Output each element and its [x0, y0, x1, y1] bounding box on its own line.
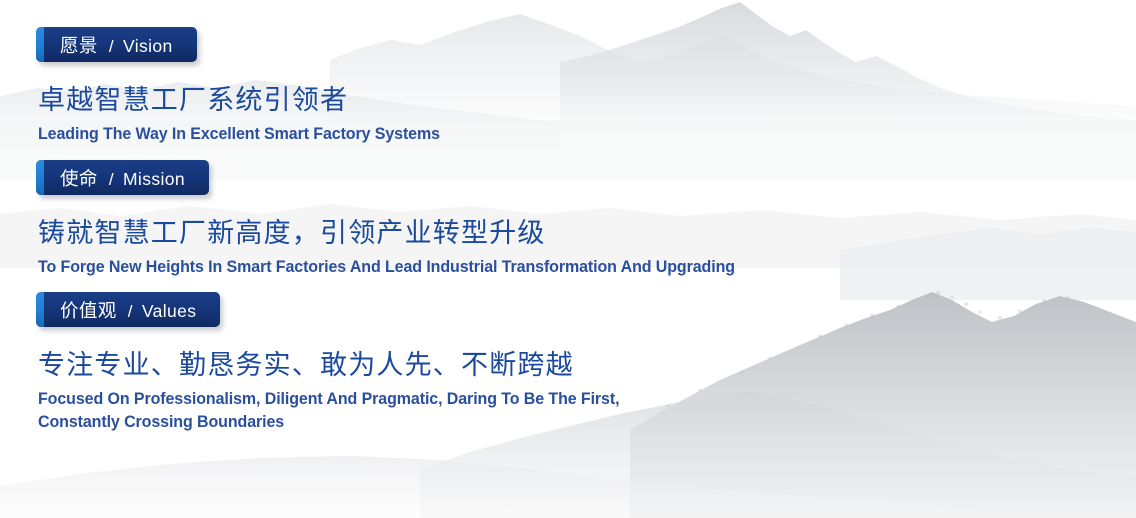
badge-vision-text: 愿景 / Vision [44, 32, 173, 58]
badge-vision-label-cn: 愿景 [60, 32, 98, 58]
vision-subtitle-en: Leading The Way In Excellent Smart Facto… [38, 123, 440, 146]
values-subtitle-line2: Constantly Crossing Boundaries [38, 411, 619, 434]
section-vision: 愿景 / Vision 卓越智慧工厂系统引领者 Leading The Way … [36, 27, 452, 146]
badge-mission: 使命 / Mission [36, 160, 209, 195]
mission-subtitle-en: To Forge New Heights In Smart Factories … [38, 256, 735, 279]
badge-accent-bar [36, 160, 44, 195]
badge-mission-text: 使命 / Mission [44, 165, 185, 191]
badge-vision-label-en: Vision [123, 36, 173, 57]
badge-mission-separator: / [98, 170, 123, 190]
badge-values: 价值观 / Values [36, 292, 220, 327]
values-subtitle-line1: Focused On Professionalism, Diligent And… [38, 390, 619, 408]
section-mission: 使命 / Mission 铸就智慧工厂新高度，引领产业转型升级 To Forge… [36, 160, 757, 279]
values-subtitle-en: Focused On Professionalism, Diligent And… [38, 388, 619, 435]
mission-subtitle-line1: To Forge New Heights In Smart Factories … [38, 258, 735, 276]
badge-mission-label-en: Mission [123, 169, 185, 190]
badge-vision: 愿景 / Vision [36, 27, 197, 62]
values-heading-cn: 专注专业、勤恳务实、敢为人先、不断跨越 [38, 349, 637, 383]
badge-accent-bar [36, 292, 44, 327]
badge-mission-label-cn: 使命 [60, 165, 98, 191]
badge-accent-bar [36, 27, 44, 62]
badge-values-label-en: Values [142, 301, 197, 322]
badge-values-separator: / [117, 302, 142, 322]
vision-mission-values-panel: 愿景 / Vision 卓越智慧工厂系统引领者 Leading The Way … [0, 0, 1136, 518]
mission-heading-cn: 铸就智慧工厂新高度，引领产业转型升级 [38, 217, 757, 251]
vision-heading-cn: 卓越智慧工厂系统引领者 [38, 84, 452, 118]
vision-subtitle-line1: Leading The Way In Excellent Smart Facto… [38, 125, 440, 143]
badge-values-label-cn: 价值观 [60, 297, 117, 323]
section-values: 价值观 / Values 专注专业、勤恳务实、敢为人先、不断跨越 Focused… [36, 292, 637, 435]
badge-vision-separator: / [98, 37, 123, 57]
badge-values-text: 价值观 / Values [44, 297, 196, 323]
